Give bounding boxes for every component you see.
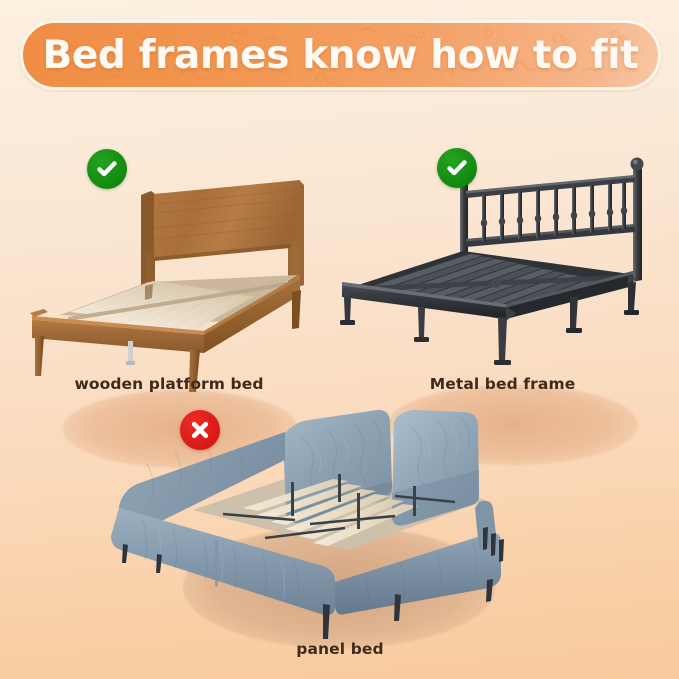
check-icon [444, 155, 470, 181]
panel-bed-illustration [95, 398, 585, 648]
item-metal-bed-frame: Metal bed frame [330, 135, 675, 400]
label-metal-bed-frame: Metal bed frame [330, 375, 675, 393]
check-icon [94, 156, 120, 182]
item-panel-bed: panel bed [95, 398, 585, 673]
badge-panel-bed [180, 410, 220, 450]
label-wooden-platform-bed: wooden platform bed [8, 375, 330, 393]
banner-pill: Bed frames know how to fit [20, 20, 661, 90]
item-wooden-platform-bed: wooden platform bed [8, 135, 330, 400]
wooden-platform-bed-illustration [8, 135, 330, 370]
badge-wooden-platform-bed [87, 149, 127, 189]
cross-icon [187, 417, 213, 443]
page-title: Bed frames know how to fit [23, 23, 658, 87]
metal-bed-frame-illustration [330, 135, 675, 370]
infographic-canvas: Bed frames know how to fit [0, 0, 679, 679]
header-banner: Bed frames know how to fit [20, 20, 661, 90]
label-panel-bed: panel bed [95, 640, 585, 658]
badge-metal-bed-frame [437, 148, 477, 188]
